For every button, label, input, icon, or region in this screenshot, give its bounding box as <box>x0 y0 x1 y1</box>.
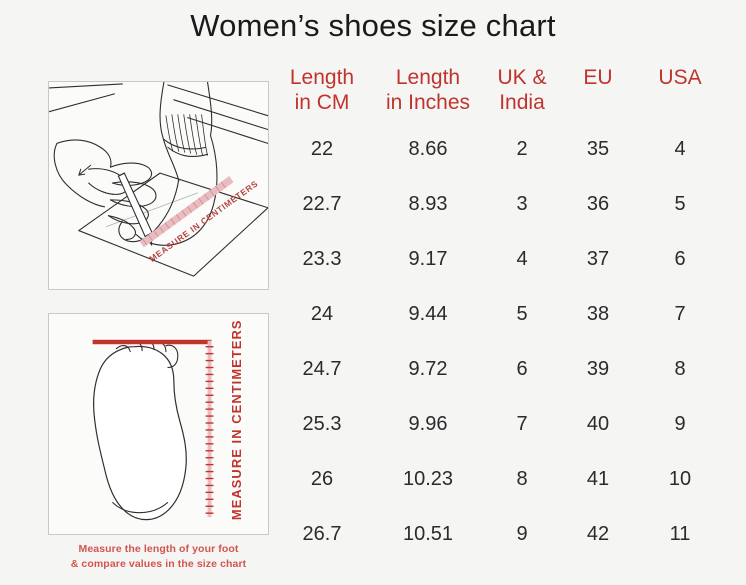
cell-usa: 4 <box>636 122 724 177</box>
header-line-1: USA <box>636 66 724 91</box>
cell-uk-india: 8 <box>484 452 560 507</box>
cell-usa: 8 <box>636 342 724 397</box>
cell-eu: 37 <box>560 232 636 287</box>
column-header-length-inches: Length in Inches <box>372 66 484 122</box>
table-row: 26.7 10.51 9 42 11 <box>272 507 724 562</box>
measure-top-bar <box>93 340 212 344</box>
cell-length-inches: 8.93 <box>372 177 484 232</box>
cell-uk-india: 6 <box>484 342 560 397</box>
cell-length-inches: 9.44 <box>372 287 484 342</box>
header-line-1: Length <box>272 66 372 91</box>
table-header-row: Length in CM Length in Inches UK & India… <box>272 66 724 122</box>
cell-uk-india: 3 <box>484 177 560 232</box>
column-header-eu: EU <box>560 66 636 122</box>
cell-eu: 38 <box>560 287 636 342</box>
table-row: 24 9.44 5 38 7 <box>272 287 724 342</box>
cell-eu: 36 <box>560 177 636 232</box>
cell-eu: 40 <box>560 397 636 452</box>
caption-line-1: Measure the length of your foot <box>48 542 269 557</box>
cell-usa: 10 <box>636 452 724 507</box>
foot-ruler-label: MEASURE IN CENTIMETERS <box>229 319 244 520</box>
cell-length-inches: 9.96 <box>372 397 484 452</box>
column-header-usa: USA <box>636 66 724 122</box>
cell-length-cm: 24 <box>272 287 372 342</box>
cell-length-cm: 25.3 <box>272 397 372 452</box>
cell-uk-india: 4 <box>484 232 560 287</box>
table-row: 26 10.23 8 41 10 <box>272 452 724 507</box>
table-row: 22 8.66 2 35 4 <box>272 122 724 177</box>
foot-outline-illustration: MEASURE IN CENTIMETERS <box>48 313 269 535</box>
cell-length-cm: 26.7 <box>272 507 372 562</box>
cell-uk-india: 5 <box>484 287 560 342</box>
illustration-column: MEASURE IN CENTIMETERS <box>48 81 269 572</box>
cell-usa: 11 <box>636 507 724 562</box>
size-chart-table: Length in CM Length in Inches UK & India… <box>272 66 724 562</box>
cell-usa: 6 <box>636 232 724 287</box>
table-row: 24.7 9.72 6 39 8 <box>272 342 724 397</box>
cell-length-inches: 8.66 <box>372 122 484 177</box>
column-header-uk-india: UK & India <box>484 66 560 122</box>
caption-line-2: & compare values in the size chart <box>48 557 269 572</box>
cell-eu: 42 <box>560 507 636 562</box>
cell-length-inches: 10.51 <box>372 507 484 562</box>
table-row: 23.3 9.17 4 37 6 <box>272 232 724 287</box>
table-row: 25.3 9.96 7 40 9 <box>272 397 724 452</box>
cell-length-cm: 26 <box>272 452 372 507</box>
measure-caption: Measure the length of your foot & compar… <box>48 542 269 572</box>
table-body: 22 8.66 2 35 4 22.7 8.93 3 36 5 23.3 9.1… <box>272 122 724 562</box>
cell-length-inches: 9.72 <box>372 342 484 397</box>
tracing-foot-illustration: MEASURE IN CENTIMETERS <box>48 81 269 290</box>
cell-length-cm: 22 <box>272 122 372 177</box>
header-line-1: UK & <box>484 66 560 91</box>
cell-length-inches: 9.17 <box>372 232 484 287</box>
column-header-length-cm: Length in CM <box>272 66 372 122</box>
cell-usa: 7 <box>636 287 724 342</box>
cell-usa: 9 <box>636 397 724 452</box>
cell-eu: 35 <box>560 122 636 177</box>
tracing-ruler-label: MEASURE IN CENTIMETERS <box>147 178 260 264</box>
header-line-1: EU <box>560 66 636 91</box>
header-line-2: in CM <box>272 91 372 116</box>
cell-uk-india: 7 <box>484 397 560 452</box>
page-title: Women’s shoes size chart <box>0 8 746 44</box>
cell-uk-india: 2 <box>484 122 560 177</box>
header-line-2: India <box>484 91 560 116</box>
cell-uk-india: 9 <box>484 507 560 562</box>
table-row: 22.7 8.93 3 36 5 <box>272 177 724 232</box>
cell-length-inches: 10.23 <box>372 452 484 507</box>
cell-length-cm: 24.7 <box>272 342 372 397</box>
cell-eu: 39 <box>560 342 636 397</box>
cell-eu: 41 <box>560 452 636 507</box>
cell-length-cm: 23.3 <box>272 232 372 287</box>
cell-usa: 5 <box>636 177 724 232</box>
cell-length-cm: 22.7 <box>272 177 372 232</box>
header-line-2: in Inches <box>372 91 484 116</box>
header-line-1: Length <box>372 66 484 91</box>
